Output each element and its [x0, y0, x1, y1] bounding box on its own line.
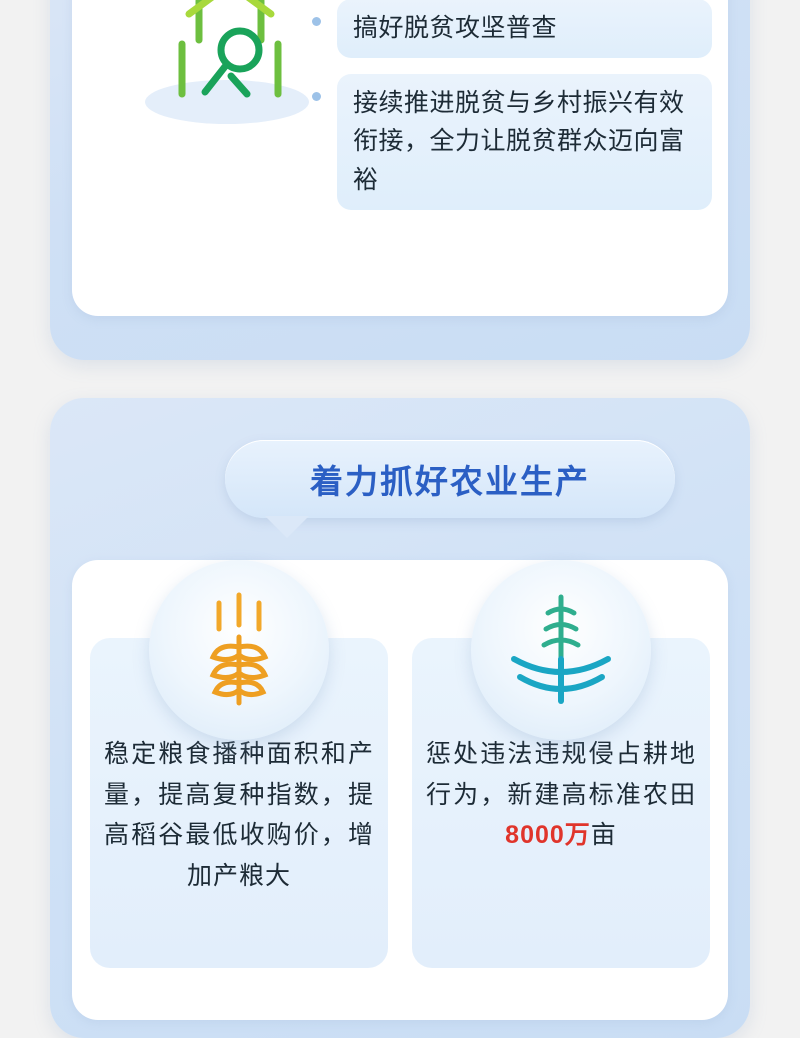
section-title: 着力抓好农业生产: [225, 440, 675, 518]
poverty-alleviation-card: 强化兜底保障 搞好脱贫攻坚普查 接续推进脱贫与乡村振兴有效衔接，全力让脱贫群众迈…: [50, 0, 750, 360]
section-title-label: 着力抓好农业生产: [310, 455, 590, 503]
agriculture-card-inner: 稳定粮食播种面积和产量，提高复种指数，提高稻谷最低收购价，增加产粮大: [72, 560, 728, 1020]
arch-and-person-icon: [127, 0, 327, 142]
agriculture-production-card: 着力抓好农业生产: [50, 398, 750, 1038]
poverty-alleviation-card-inner: 强化兜底保障 搞好脱贫攻坚普查 接续推进脱贫与乡村振兴有效衔接，全力让脱贫群众迈…: [72, 0, 728, 316]
list-item: 搞好脱贫攻坚普查: [312, 0, 712, 58]
list-item-label: 接续推进脱贫与乡村振兴有效衔接，全力让脱贫群众迈向富裕: [337, 74, 712, 210]
agriculture-column-farmland-text: 惩处违法违规侵占耕地行为，新建高标准农田8000万亩: [426, 734, 696, 856]
wheat-ear-icon: [149, 560, 329, 740]
agriculture-columns: 稳定粮食播种面积和产量，提高复种指数，提高稻谷最低收购价，增加产粮大: [90, 638, 710, 968]
agriculture-column-farmland: 惩处违法违规侵占耕地行为，新建高标准农田8000万亩: [412, 638, 710, 968]
section-title-pill: 着力抓好农业生产: [225, 440, 675, 518]
list-item-label: 搞好脱贫攻坚普查: [337, 0, 712, 58]
agriculture-column-grain-text: 稳定粮食播种面积和产量，提高复种指数，提高稻谷最低收购价，增加产粮大: [104, 734, 374, 896]
rice-paddy-icon: [471, 560, 651, 740]
list-item: 接续推进脱贫与乡村振兴有效衔接，全力让脱贫群众迈向富裕: [312, 74, 712, 210]
bullet-dot-icon: [312, 17, 321, 26]
bullet-list: 强化兜底保障 搞好脱贫攻坚普查 接续推进脱贫与乡村振兴有效衔接，全力让脱贫群众迈…: [312, 0, 712, 226]
agriculture-column-grain: 稳定粮食播种面积和产量，提高复种指数，提高稻谷最低收购价，增加产粮大: [90, 638, 388, 968]
title-arrow-icon: [265, 516, 309, 538]
bullet-dot-icon: [312, 92, 321, 101]
